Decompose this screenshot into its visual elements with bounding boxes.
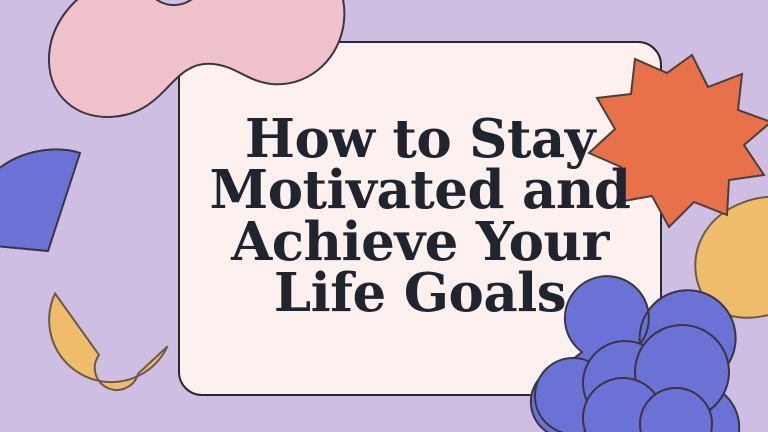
- title-container: How to Stay Motivated and Achieve Your L…: [178, 41, 662, 396]
- page-title: How to Stay Motivated and Achieve Your L…: [210, 114, 631, 320]
- title-line-4: Life Goals: [210, 268, 631, 319]
- title-line-2: Motivated and: [210, 165, 631, 216]
- poster-canvas: How to Stay Motivated and Achieve Your L…: [0, 0, 768, 432]
- title-text-layer: How to Stay Motivated and Achieve Your L…: [0, 0, 768, 432]
- title-line-3: Achieve Your: [210, 217, 631, 268]
- title-line-1: How to Stay: [210, 114, 631, 165]
